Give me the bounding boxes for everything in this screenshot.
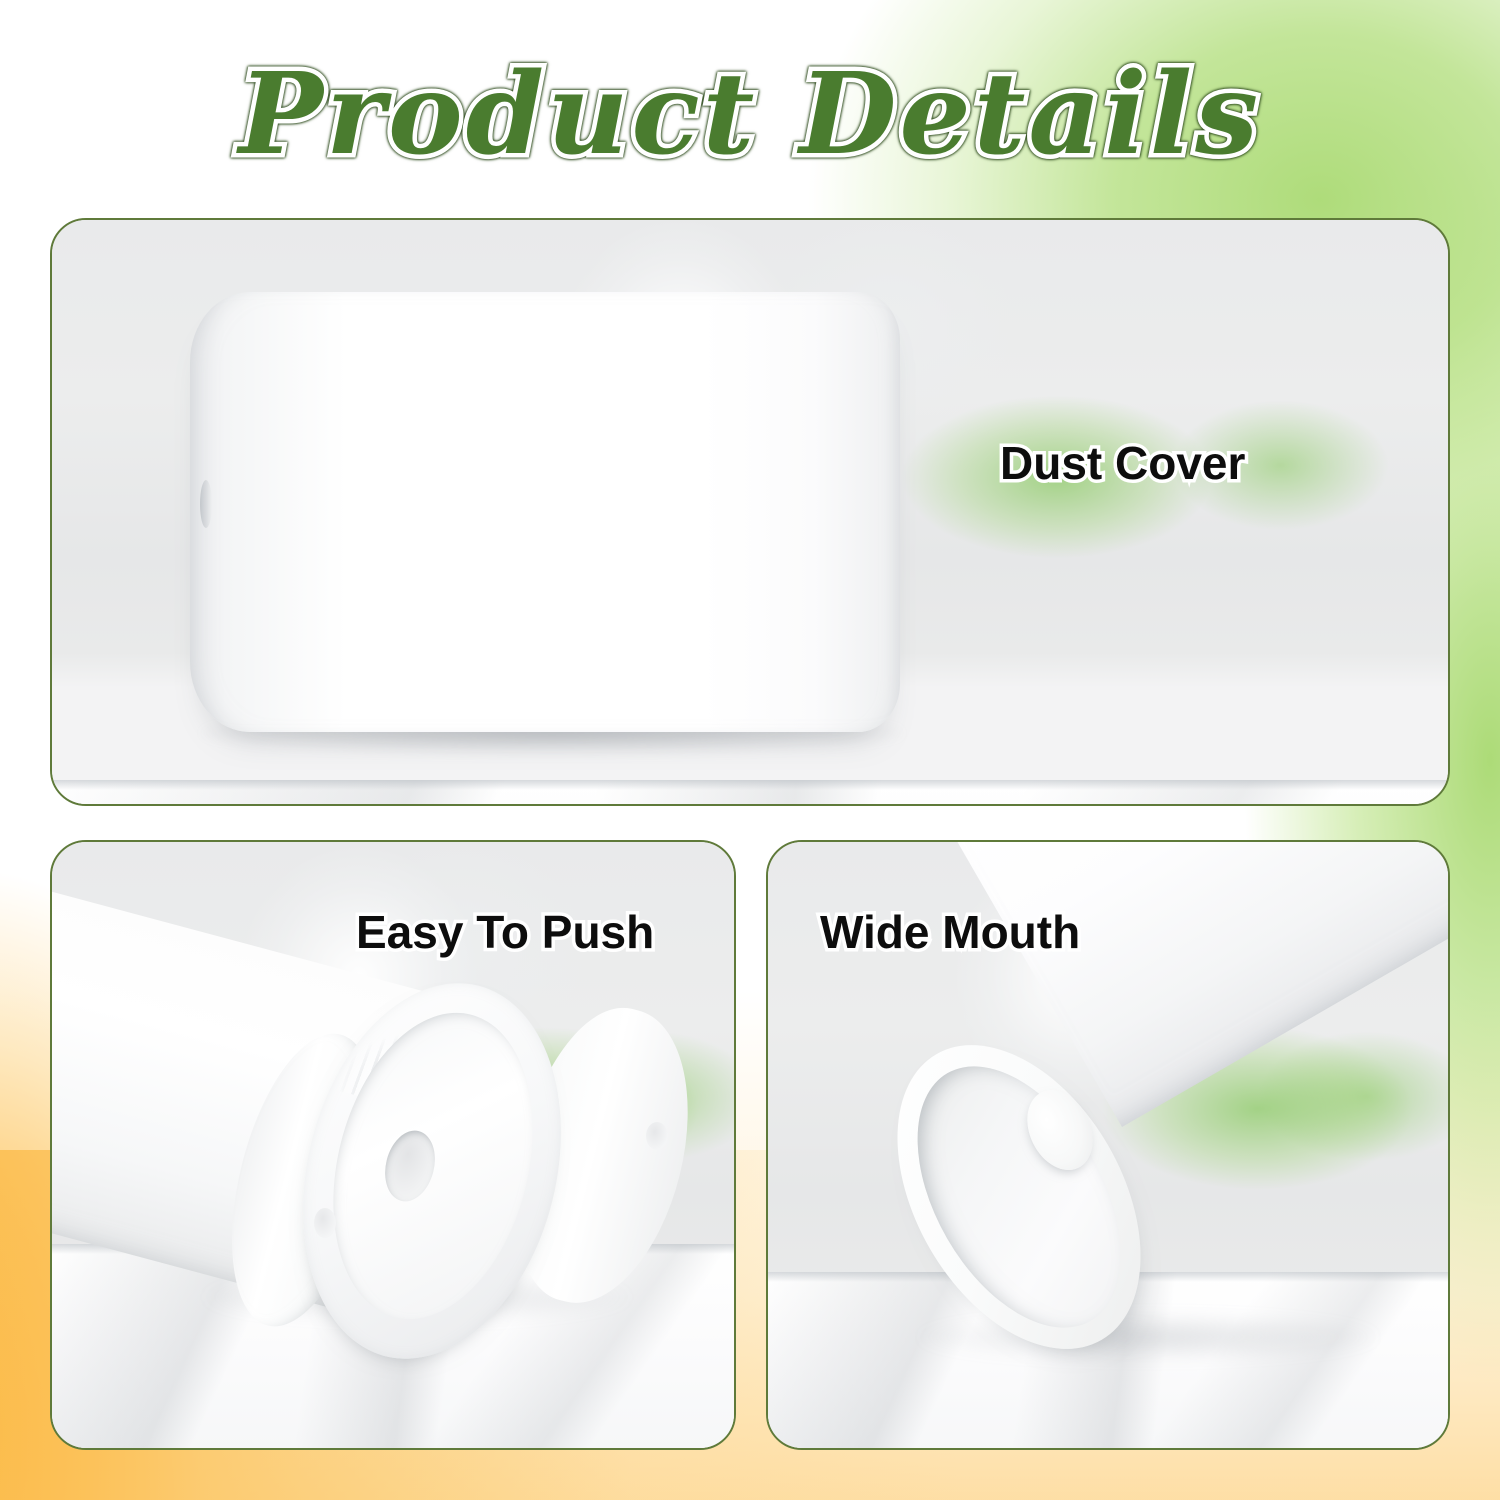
- product-details-infographic: Product Details Dust Cover: [0, 0, 1500, 1500]
- feature-label-easy-to-push: Easy To Push: [356, 905, 654, 959]
- counter-edge: [52, 780, 1448, 790]
- page-title-container: Product Details: [0, 44, 1500, 184]
- pump-tab-right: [646, 1122, 668, 1150]
- panel-dust-cover: [50, 218, 1450, 806]
- pump-tab-left: [314, 1208, 336, 1238]
- dust-cover-dimple: [200, 480, 212, 528]
- feature-label-dust-cover: Dust Cover: [1000, 436, 1245, 490]
- page-title: Product Details: [239, 49, 1261, 180]
- feature-label-wide-mouth: Wide Mouth: [820, 905, 1080, 959]
- product-shadow: [918, 1314, 1378, 1360]
- dust-cover-product-image: [190, 292, 900, 732]
- marble-counter-surface: [52, 780, 1448, 806]
